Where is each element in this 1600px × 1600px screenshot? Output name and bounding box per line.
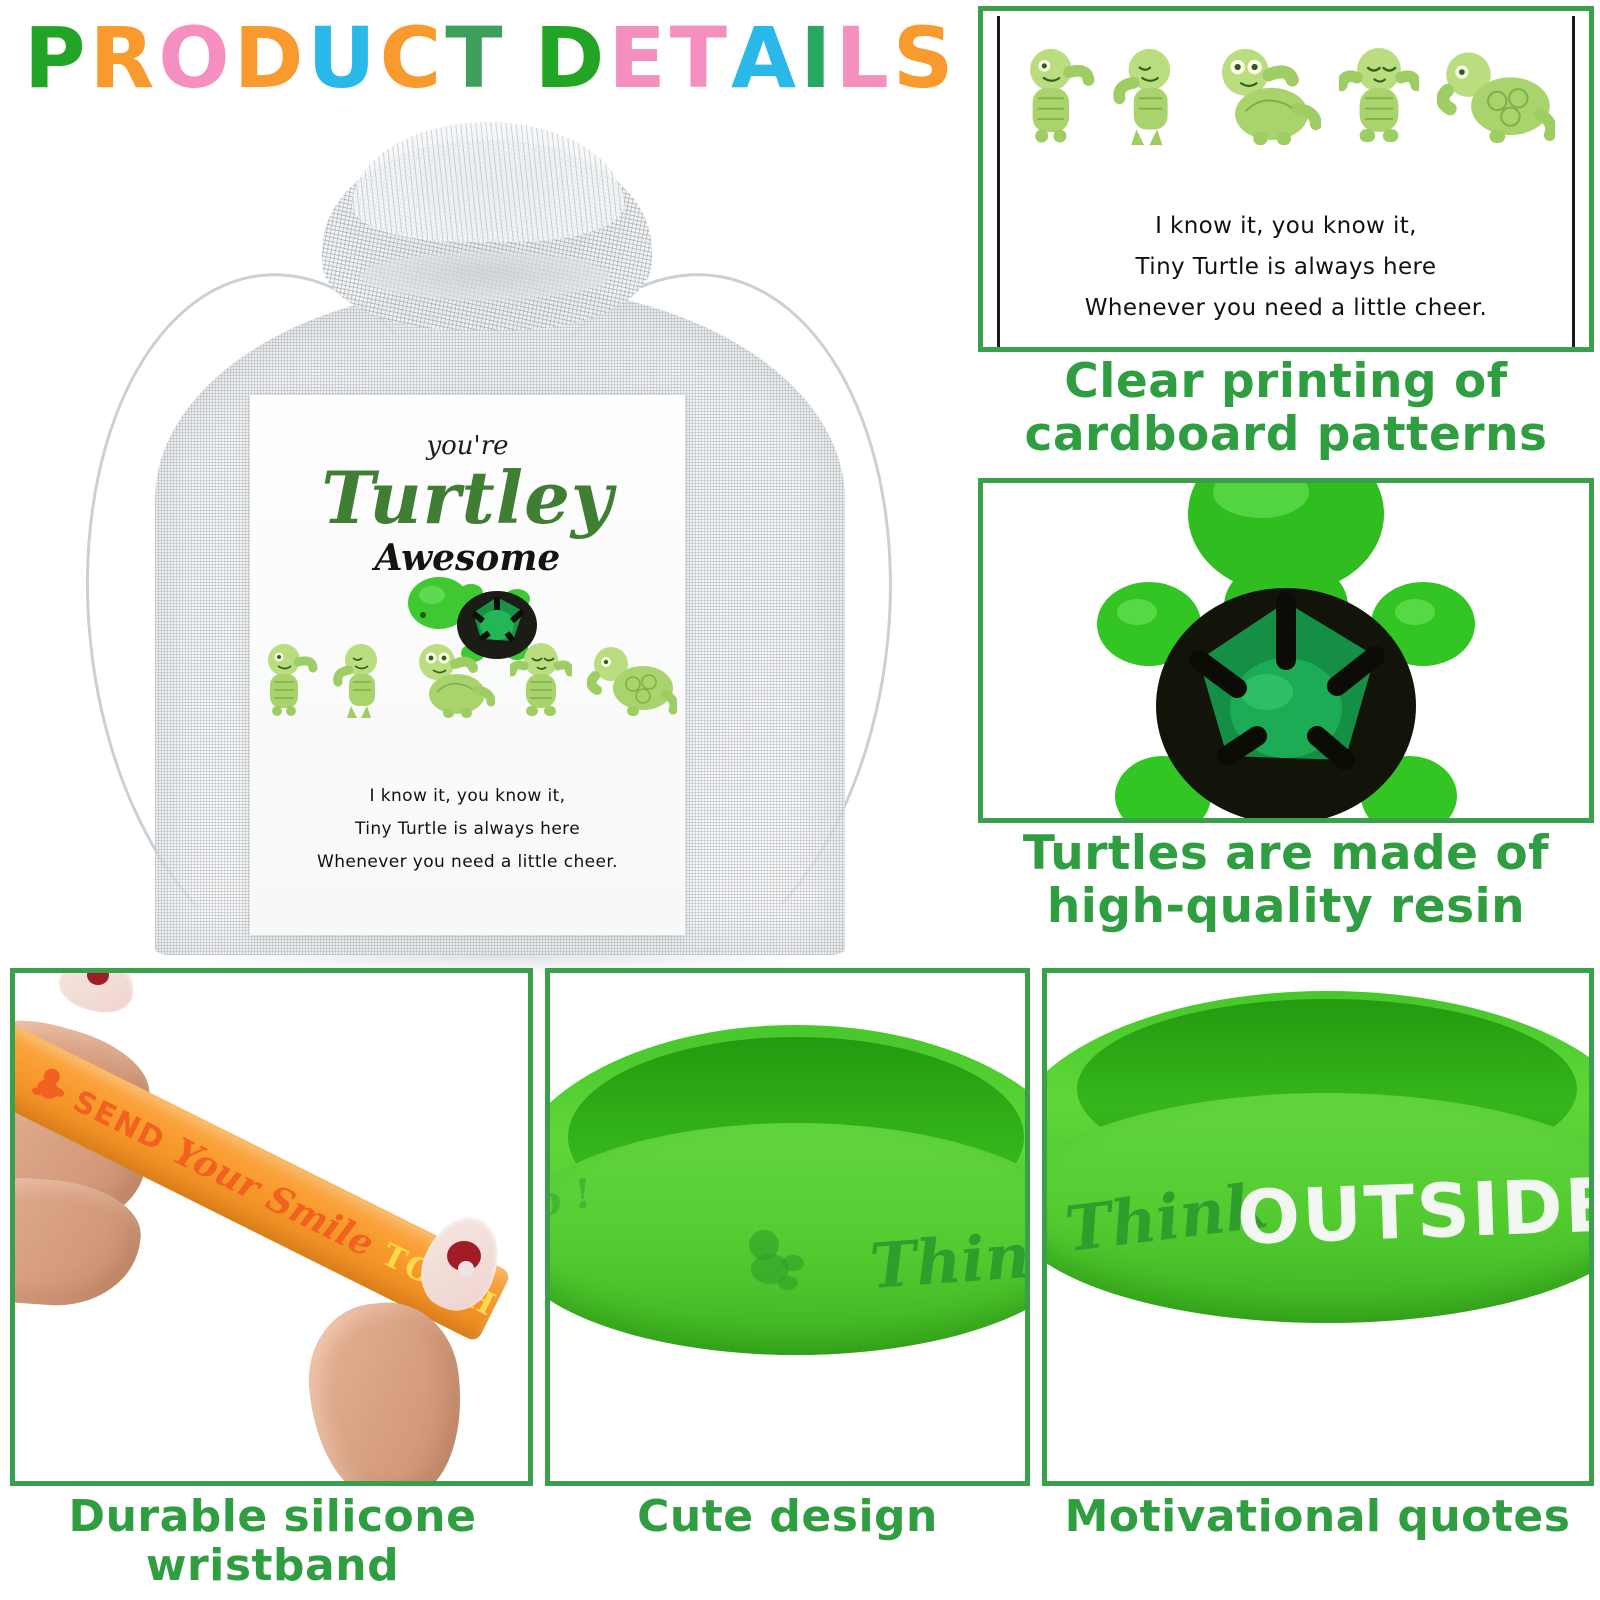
nail-art-gem xyxy=(458,1261,474,1276)
title-letter-8: D xyxy=(535,16,607,100)
panel-cardboard-printing: I know it, you know it, Tiny Turtle is a… xyxy=(978,6,1594,352)
turtle-icon xyxy=(25,1061,73,1111)
poem-line-2: Tiny Turtle is always here xyxy=(983,247,1589,288)
cartoon-turtle-icon xyxy=(1209,43,1321,151)
cartoon-turtle-icon xyxy=(510,640,572,722)
card-poem: I know it, you know it, Tiny Turtle is a… xyxy=(250,780,685,879)
caption-silicone-wristband: Durable silicone wristband xyxy=(0,1492,545,1591)
band-text-think: Think xyxy=(868,1216,1025,1303)
title-letter-5: C xyxy=(380,16,444,100)
band-text-outside: OUTSIDE xyxy=(1236,1162,1589,1261)
poem-line-1: I know it, you know it, xyxy=(250,780,685,813)
caption-line-1: Motivational quotes xyxy=(1035,1492,1600,1541)
title-letter-2: O xyxy=(158,16,231,100)
panel-motivational-quotes: Think OUTSIDE xyxy=(1042,968,1594,1486)
poem-line-2: Tiny Turtle is always here xyxy=(250,813,685,846)
cartoon-turtle-icon xyxy=(1113,43,1191,151)
panel-resin-turtle xyxy=(978,478,1594,823)
title-letter-14: S xyxy=(893,16,956,100)
hand-holding-wristband-photo: SEND Your Smile TO THE WORLD xyxy=(15,973,528,1481)
resin-turtle-photo xyxy=(983,483,1589,818)
turtle-icon xyxy=(736,1223,808,1300)
poem-line-3: Whenever you need a little cheer. xyxy=(983,288,1589,329)
cartoon-turtle-icon xyxy=(1017,43,1095,151)
title-letter-3: D xyxy=(234,16,306,100)
caption-line-1: Cute design xyxy=(545,1492,1030,1541)
caption-line-1: Turtles are made of xyxy=(978,828,1594,881)
card-turtle-row xyxy=(258,640,677,722)
caption-cardboard-printing: Clear printing of cardboard patterns xyxy=(978,356,1594,461)
cartoon-turtle-icon xyxy=(333,640,393,722)
title-letter-9: E xyxy=(608,16,667,100)
bag-cinch xyxy=(360,252,610,300)
caption-line-2: wristband xyxy=(0,1541,545,1590)
title-letter-11: A xyxy=(731,16,798,100)
cartoon-turtle-icon xyxy=(258,640,318,722)
caption-cute-design: Cute design xyxy=(545,1492,1030,1541)
caption-resin-turtle: Turtles are made of high-quality resin xyxy=(978,828,1594,933)
poem-line-1: I know it, you know it, xyxy=(983,206,1589,247)
caption-line-2: cardboard patterns xyxy=(978,409,1594,462)
cartoon-turtle-icon xyxy=(409,640,495,722)
panel-silicone-wristband: SEND Your Smile TO THE WORLD xyxy=(10,968,533,1486)
title-letter-6: T xyxy=(445,16,504,100)
title-letter-0: P xyxy=(24,16,88,100)
panel-card-poem: I know it, you know it, Tiny Turtle is a… xyxy=(983,206,1589,329)
cartoon-turtle-icon xyxy=(587,640,677,722)
title-letter-13: L xyxy=(835,16,891,100)
title-letter-4: U xyxy=(307,16,377,100)
page-title: PRODUCTDETAILS xyxy=(24,8,974,108)
title-letter-1: R xyxy=(90,16,157,100)
band-text-your-smile: Your Smile xyxy=(166,1130,380,1265)
cartoon-turtle-icon xyxy=(1437,43,1555,151)
green-wristband-quote-photo: Think OUTSIDE xyxy=(1047,973,1589,1481)
card-turtley-text: Turtley xyxy=(250,455,685,540)
green-wristband-photo: o ! Think xyxy=(550,973,1025,1481)
title-letter-10: T xyxy=(670,16,729,100)
product-details-infographic: PRODUCTDETAILS you're Turtley Awesome xyxy=(0,0,1600,1600)
panel-cute-design: o ! Think xyxy=(545,968,1030,1486)
caption-line-2: high-quality resin xyxy=(978,881,1594,934)
poem-line-3: Whenever you need a little cheer. xyxy=(250,846,685,879)
caption-line-1: Clear printing of xyxy=(978,356,1594,409)
cartoon-turtle-icon xyxy=(1339,43,1419,151)
caption-line-1: Durable silicone xyxy=(0,1492,545,1541)
caption-motivational-quotes: Motivational quotes xyxy=(1035,1492,1600,1541)
bag-ruffle xyxy=(352,122,624,242)
organza-bag-photo: you're Turtley Awesome xyxy=(60,100,920,960)
title-letter-12: I xyxy=(800,16,833,100)
panel-card-turtle-row xyxy=(983,33,1589,151)
gift-card: you're Turtley Awesome xyxy=(250,395,685,935)
